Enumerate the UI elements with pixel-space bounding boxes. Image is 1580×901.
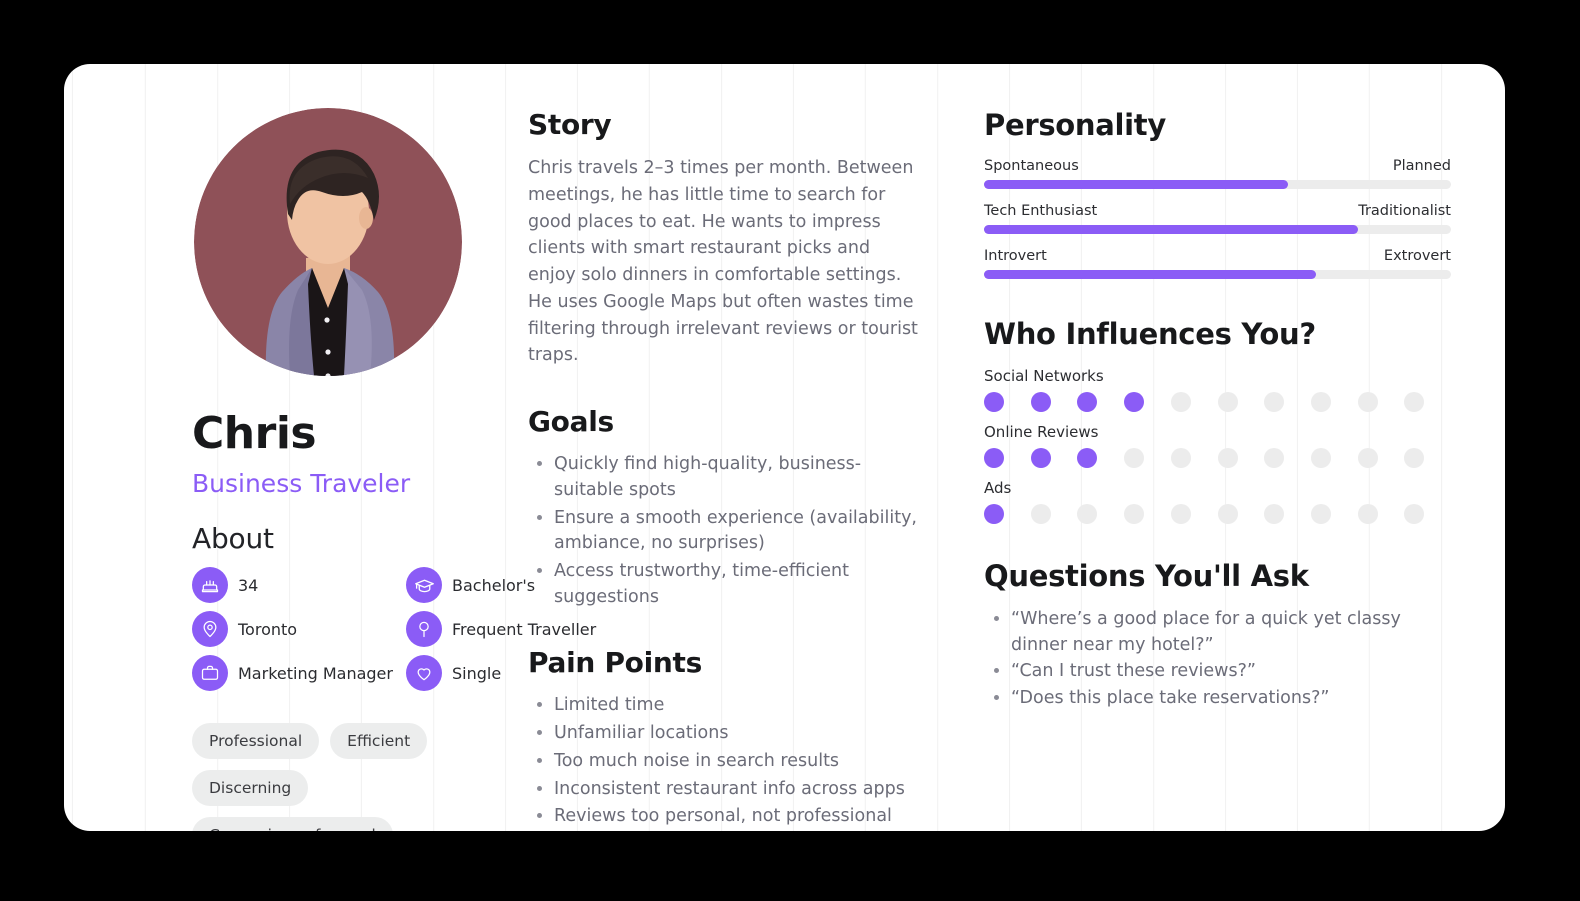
influence-dot[interactable] (1404, 448, 1424, 468)
slider-right-label: Planned (1393, 158, 1451, 174)
briefcase-icon (192, 655, 228, 691)
slider-fill (984, 270, 1316, 279)
influence-dot-scale[interactable] (984, 392, 1451, 412)
heart-icon (406, 655, 442, 691)
influence-dot-scale[interactable] (984, 448, 1451, 468)
influence-dot[interactable] (1264, 392, 1284, 412)
influence-row-online-reviews: Online Reviews (984, 423, 1451, 468)
influence-dot[interactable] (1404, 392, 1424, 412)
influence-dot[interactable] (984, 504, 1004, 524)
list-item: Too much noise in search results (554, 749, 920, 775)
influence-dot[interactable] (984, 448, 1004, 468)
about-item-location: Toronto (192, 611, 406, 647)
influences-heading: Who Influences You? (984, 317, 1451, 351)
pain-points-heading: Pain Points (528, 646, 920, 679)
graduation-cap-icon (406, 567, 442, 603)
card-content: Chris Business Traveler About 34 (64, 64, 1505, 831)
persona-card: Chris Business Traveler About 34 (64, 64, 1505, 831)
list-item: Ensure a smooth experience (availability… (554, 506, 920, 557)
profile-role: Business Traveler (192, 469, 504, 498)
trait-tag[interactable]: Efficient (330, 723, 427, 759)
influence-dot-scale[interactable] (984, 504, 1451, 524)
influence-dot[interactable] (1171, 504, 1191, 524)
slider-fill (984, 180, 1288, 189)
influence-dot[interactable] (1311, 392, 1331, 412)
influence-dot[interactable] (1311, 448, 1331, 468)
trait-tag[interactable]: Professional (192, 723, 319, 759)
personality-slider-spontaneous-planned[interactable]: Spontaneous Planned (984, 158, 1451, 189)
influence-dot[interactable] (1218, 504, 1238, 524)
influence-label: Social Networks (984, 367, 1451, 385)
about-item-label: Toronto (238, 620, 297, 639)
list-item: “Where’s a good place for a quick yet cl… (1011, 607, 1451, 658)
profile-column: Chris Business Traveler About 34 (112, 108, 512, 801)
influence-dot[interactable] (1124, 392, 1144, 412)
about-item-label: 34 (238, 576, 258, 595)
influence-dot[interactable] (1264, 504, 1284, 524)
slider-left-label: Tech Enthusiast (984, 203, 1097, 219)
personality-sliders: Spontaneous Planned Tech Enthusiast Trad… (984, 158, 1451, 279)
list-item: “Can I trust these reviews?” (1011, 659, 1451, 685)
influence-dot[interactable] (1031, 448, 1051, 468)
slider-right-label: Traditionalist (1358, 203, 1451, 219)
influence-dot[interactable] (1404, 504, 1424, 524)
slider-track[interactable] (984, 270, 1451, 279)
influence-label: Online Reviews (984, 423, 1451, 441)
list-item: Quickly find high-quality, business-suit… (554, 452, 920, 503)
personality-heading: Personality (984, 108, 1451, 142)
influence-dot[interactable] (1124, 504, 1144, 524)
person-illustration-avatar (194, 108, 462, 376)
metrics-column: Personality Spontaneous Planned Te (932, 108, 1457, 801)
trait-tag[interactable]: Discerning (192, 770, 308, 806)
page-title: Chris (192, 408, 504, 459)
list-item: Access trustworthy, time-efficient sugge… (554, 559, 920, 610)
story-heading: Story (528, 108, 920, 141)
influence-dot[interactable] (1358, 392, 1378, 412)
trait-tag[interactable]: Convenience-focused (192, 817, 393, 831)
influences-list: Social Networks Online Reviews Ads (984, 367, 1451, 524)
influence-dot[interactable] (1077, 504, 1097, 524)
questions-heading: Questions You'll Ask (984, 559, 1451, 593)
about-heading: About (192, 522, 504, 555)
influence-dot[interactable] (1031, 392, 1051, 412)
avatar (194, 108, 462, 376)
about-item-job: Marketing Manager (192, 655, 406, 691)
influence-dot[interactable] (1218, 448, 1238, 468)
goals-list: Quickly find high-quality, business-suit… (528, 452, 920, 610)
pain-points-list: Limited time Unfamiliar locations Too mu… (528, 693, 920, 831)
about-list: 34 Bachelor's (192, 567, 504, 691)
list-item: “Does this place take reservations?” (1011, 686, 1451, 712)
screen: Chris Business Traveler About 34 (0, 0, 1580, 901)
location-pin-icon (192, 611, 228, 647)
slider-right-label: Extrovert (1384, 248, 1451, 264)
list-item: Inconsistent restaurant info across apps (554, 777, 920, 803)
list-item: Limited time (554, 693, 920, 719)
influence-dot[interactable] (1264, 448, 1284, 468)
slider-left-label: Introvert (984, 248, 1047, 264)
influence-row-ads: Ads (984, 479, 1451, 524)
influence-row-social-networks: Social Networks (984, 367, 1451, 412)
influence-dot[interactable] (1031, 504, 1051, 524)
story-text: Chris travels 2–3 times per month. Betwe… (528, 155, 920, 369)
influence-dot[interactable] (1358, 504, 1378, 524)
influence-dot[interactable] (1311, 504, 1331, 524)
questions-list: “Where’s a good place for a quick yet cl… (984, 607, 1451, 712)
about-item-label: Marketing Manager (238, 664, 393, 683)
slider-track[interactable] (984, 225, 1451, 234)
personality-slider-tech-traditional[interactable]: Tech Enthusiast Traditionalist (984, 203, 1451, 234)
influence-dot[interactable] (1077, 392, 1097, 412)
influence-dot[interactable] (1124, 448, 1144, 468)
personality-slider-introvert-extrovert[interactable]: Introvert Extrovert (984, 248, 1451, 279)
influence-label: Ads (984, 479, 1451, 497)
influence-dot[interactable] (1218, 392, 1238, 412)
list-item: Unfamiliar locations (554, 721, 920, 747)
slider-fill (984, 225, 1358, 234)
birthday-cake-icon (192, 567, 228, 603)
slider-left-label: Spontaneous (984, 158, 1079, 174)
balloon-icon (406, 611, 442, 647)
list-item: Reviews too personal, not professional (554, 804, 920, 830)
influence-dot[interactable] (1171, 448, 1191, 468)
narrative-column: Story Chris travels 2–3 times per month.… (512, 108, 932, 801)
influence-dot[interactable] (1358, 448, 1378, 468)
influence-dot[interactable] (1171, 392, 1191, 412)
trait-tag-list: Professional Efficient Discerning Conven… (192, 723, 504, 831)
influence-dot[interactable] (984, 392, 1004, 412)
influence-dot[interactable] (1077, 448, 1097, 468)
about-item-label: Single (452, 664, 501, 683)
slider-track[interactable] (984, 180, 1451, 189)
goals-heading: Goals (528, 405, 920, 438)
about-item-age: 34 (192, 567, 406, 603)
